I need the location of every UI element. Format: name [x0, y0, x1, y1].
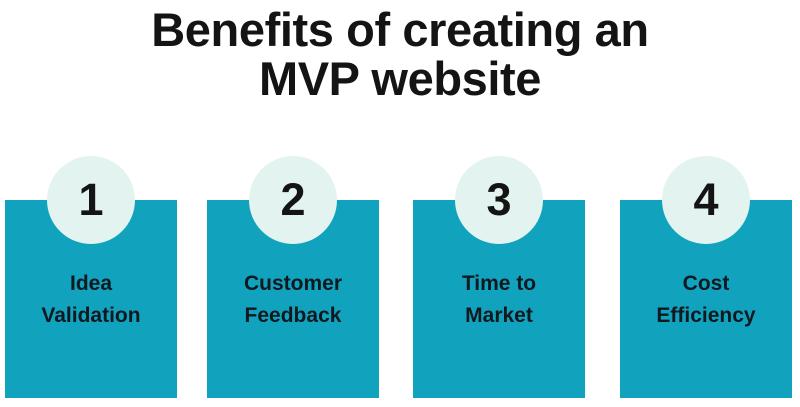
step-number-badge-1: 1: [47, 156, 135, 244]
infographic-canvas: Benefits of creating an MVP website 1 Id…: [0, 0, 800, 407]
benefit-card-label-4: Cost Efficiency: [614, 268, 798, 332]
step-number-3: 3: [486, 177, 511, 222]
benefit-card-label-2-line-2: Feedback: [201, 300, 385, 332]
benefit-card-label-1-line-2: Validation: [0, 300, 183, 332]
step-number-4: 4: [693, 177, 718, 222]
benefit-card-label-3: Time to Market: [407, 268, 591, 332]
step-number-badge-3: 3: [455, 156, 543, 244]
benefit-card-4[interactable]: 4 Cost Efficiency: [620, 200, 792, 398]
step-number-badge-2: 2: [249, 156, 337, 244]
benefit-card-label-1: Idea Validation: [0, 268, 183, 332]
benefit-card-label-4-line-2: Efficiency: [614, 300, 798, 332]
benefit-card-3[interactable]: 3 Time to Market: [413, 200, 585, 398]
benefit-card-label-2-line-1: Customer: [201, 268, 385, 300]
benefit-card-2[interactable]: 2 Customer Feedback: [207, 200, 379, 398]
benefit-card-label-2: Customer Feedback: [201, 268, 385, 332]
benefit-card-label-1-line-1: Idea: [0, 268, 183, 300]
benefit-card-label-3-line-2: Market: [407, 300, 591, 332]
benefit-cards-row: 1 Idea Validation 2 Customer Feedback 3 …: [0, 0, 800, 407]
step-number-badge-4: 4: [662, 156, 750, 244]
benefit-card-label-3-line-1: Time to: [407, 268, 591, 300]
step-number-2: 2: [280, 177, 305, 222]
benefit-card-label-4-line-1: Cost: [614, 268, 798, 300]
step-number-1: 1: [78, 177, 103, 222]
benefit-card-1[interactable]: 1 Idea Validation: [5, 200, 177, 398]
